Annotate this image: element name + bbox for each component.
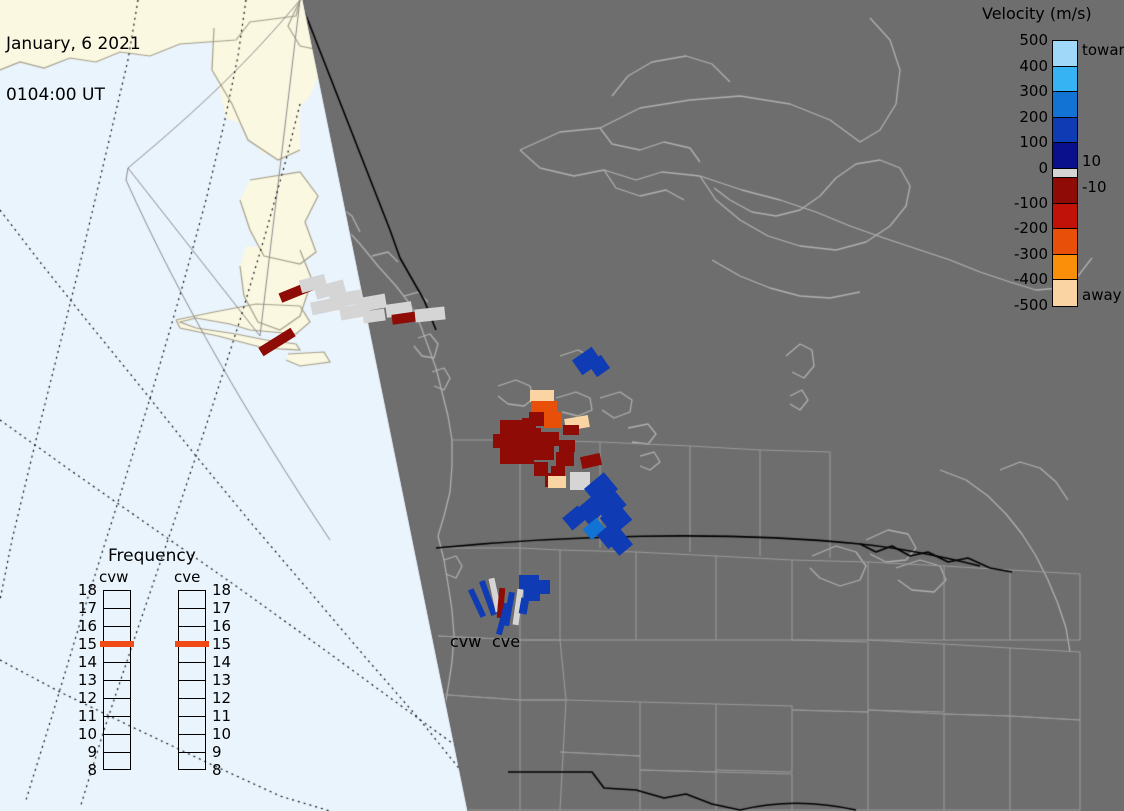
frequency-cell [179, 699, 205, 717]
frequency-marker-cvw [100, 641, 134, 647]
colorbar-toward-label: toward [1082, 41, 1124, 59]
frequency-title: Frequency [108, 546, 196, 566]
frequency-tick-label: 12 [71, 689, 97, 707]
colorbar-band [1053, 41, 1077, 67]
frequency-bar-cve [178, 590, 206, 770]
colorbar-away-label: away [1082, 286, 1122, 304]
colorbar-tick-label: 100 [1004, 133, 1048, 151]
frequency-tick-label: 15 [71, 635, 97, 653]
timestamp: January, 6 2021 0104:00 UT [6, 2, 141, 138]
colorbar-tick-label: 200 [1004, 108, 1048, 126]
frequency-tick-label: 11 [71, 707, 97, 725]
frequency-tick-label: 14 [71, 653, 97, 671]
frequency-column-label-cvw: cvw [99, 568, 128, 586]
frequency-tick-label: 14 [212, 653, 238, 671]
colorbar-band [1053, 169, 1077, 178]
velocity-colorbar-panel: Velocity (m/s) 5004003002001000-100-200-… [978, 0, 1124, 340]
frequency-cell [104, 753, 130, 771]
frequency-cell [104, 591, 130, 609]
colorbar-band [1053, 280, 1077, 306]
frequency-cell [104, 735, 130, 753]
frequency-cell [104, 609, 130, 627]
colorbar-band [1053, 118, 1077, 144]
colorbar-tick-label: 500 [1004, 31, 1048, 49]
frequency-tick-label: 13 [71, 671, 97, 689]
frequency-cell [104, 717, 130, 735]
colorbar-band [1053, 255, 1077, 281]
frequency-cell [104, 699, 130, 717]
timestamp-time: 0104:00 UT [6, 87, 141, 104]
frequency-cell [179, 735, 205, 753]
frequency-panel: Frequency cvw18171615141312111098cve1817… [85, 546, 245, 781]
radar-site-label-cve: cve [492, 632, 520, 651]
frequency-tick-label: 10 [71, 725, 97, 743]
frequency-tick-label: 16 [71, 617, 97, 635]
frequency-tick-label: 11 [212, 707, 238, 725]
colorbar-lower-threshold-label: -10 [1082, 178, 1107, 196]
frequency-cell [104, 645, 130, 663]
colorbar-tick-label: -400 [1004, 270, 1048, 288]
frequency-tick-label: 9 [71, 743, 97, 761]
frequency-cell [179, 645, 205, 663]
colorbar-tick-label: 400 [1004, 57, 1048, 75]
frequency-tick-label: 15 [212, 635, 238, 653]
colorbar-tick-label: -500 [1004, 296, 1048, 314]
colorbar-tick-label: 300 [1004, 82, 1048, 100]
frequency-tick-label: 18 [212, 581, 238, 599]
superdarn-velocity-map: January, 6 2021 0104:00 UT Velocity (m/s… [0, 0, 1124, 811]
colorbar-tick-label: -100 [1004, 194, 1048, 212]
frequency-tick-label: 8 [71, 761, 97, 779]
frequency-tick-label: 13 [212, 671, 238, 689]
frequency-cell [179, 753, 205, 771]
colorbar-band [1053, 204, 1077, 230]
colorbar-title: Velocity (m/s) [982, 4, 1092, 23]
frequency-tick-label: 17 [71, 599, 97, 617]
colorbar-band [1053, 178, 1077, 204]
colorbar-tick-label: -200 [1004, 219, 1048, 237]
colorbar-tick-label: 0 [1004, 159, 1048, 177]
frequency-tick-label: 18 [71, 581, 97, 599]
frequency-cell [179, 681, 205, 699]
frequency-tick-label: 17 [212, 599, 238, 617]
frequency-cell [179, 663, 205, 681]
frequency-cell [179, 591, 205, 609]
frequency-marker-cve [175, 641, 209, 647]
frequency-tick-label: 9 [212, 743, 238, 761]
colorbar-band [1053, 92, 1077, 118]
frequency-cell [179, 717, 205, 735]
frequency-tick-label: 16 [212, 617, 238, 635]
frequency-tick-label: 10 [212, 725, 238, 743]
radar-site-label-cvw: cvw [450, 632, 481, 651]
colorbar-tick-label: -300 [1004, 245, 1048, 263]
frequency-tick-label: 8 [212, 761, 238, 779]
colorbar-tick-labels: 5004003002001000-100-200-300-400-500 [998, 40, 1048, 307]
colorbar-upper-threshold-label: 10 [1082, 152, 1101, 170]
frequency-tick-label: 12 [212, 689, 238, 707]
frequency-cell [104, 681, 130, 699]
frequency-bar-cvw [103, 590, 131, 770]
colorbar-band [1053, 143, 1077, 169]
colorbar-band [1053, 67, 1077, 93]
frequency-column-label-cve: cve [174, 568, 200, 586]
frequency-cell [179, 609, 205, 627]
colorbar-strip [1052, 40, 1078, 307]
frequency-cell [104, 663, 130, 681]
timestamp-date: January, 6 2021 [6, 36, 141, 53]
colorbar-band [1053, 229, 1077, 255]
